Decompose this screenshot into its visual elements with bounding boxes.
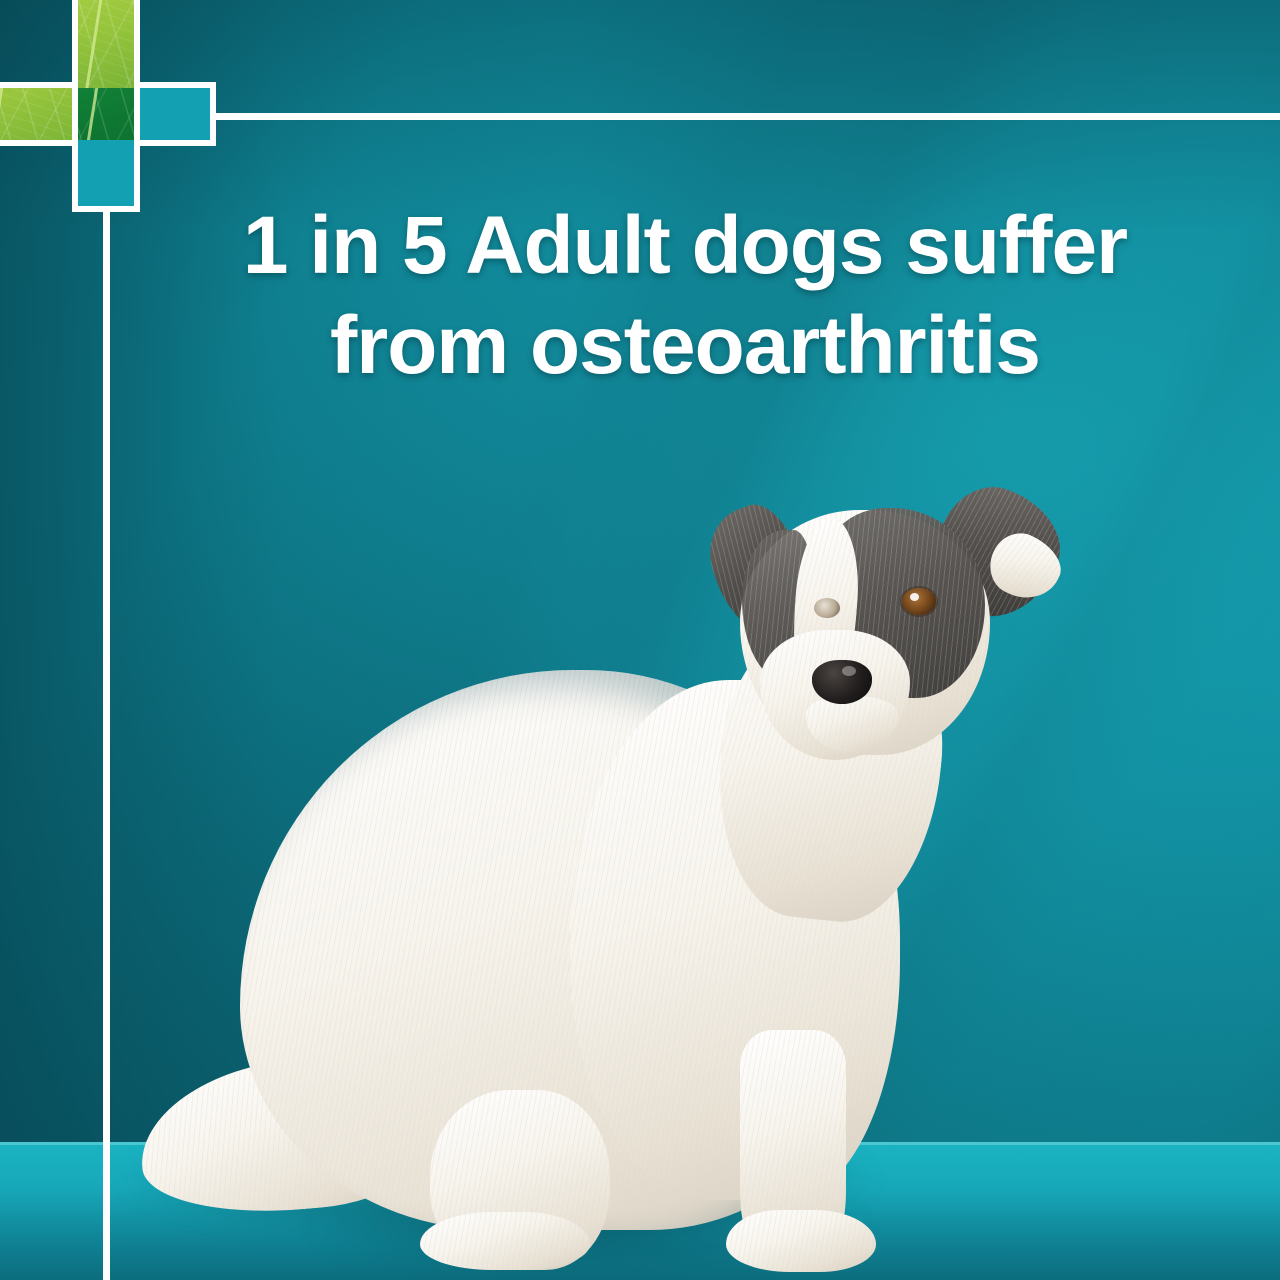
vertical-rule [103, 210, 110, 1280]
dog-photo [130, 470, 1090, 1260]
horizontal-rule [210, 113, 1280, 120]
dog-eye-highlight [910, 593, 919, 601]
logo-intersection [78, 88, 134, 140]
dog-front-paw [726, 1210, 876, 1272]
promo-banner: 1 in 5 Adult dogs suffer from osteoarthr… [0, 0, 1280, 1280]
dog-rear-paw [420, 1212, 590, 1270]
leaf-vein [78, 88, 106, 140]
dog-right-eye [902, 588, 936, 615]
dog-nose-highlight [842, 666, 856, 676]
leaf-cross-logo [0, 0, 216, 216]
leaf-vein [0, 88, 12, 140]
logo-arm-teal-right [133, 88, 210, 140]
leaf-texture-dark [78, 88, 134, 140]
page-title: 1 in 5 Adult dogs suffer from osteoarthr… [150, 196, 1220, 396]
dog-left-eye [814, 598, 840, 618]
